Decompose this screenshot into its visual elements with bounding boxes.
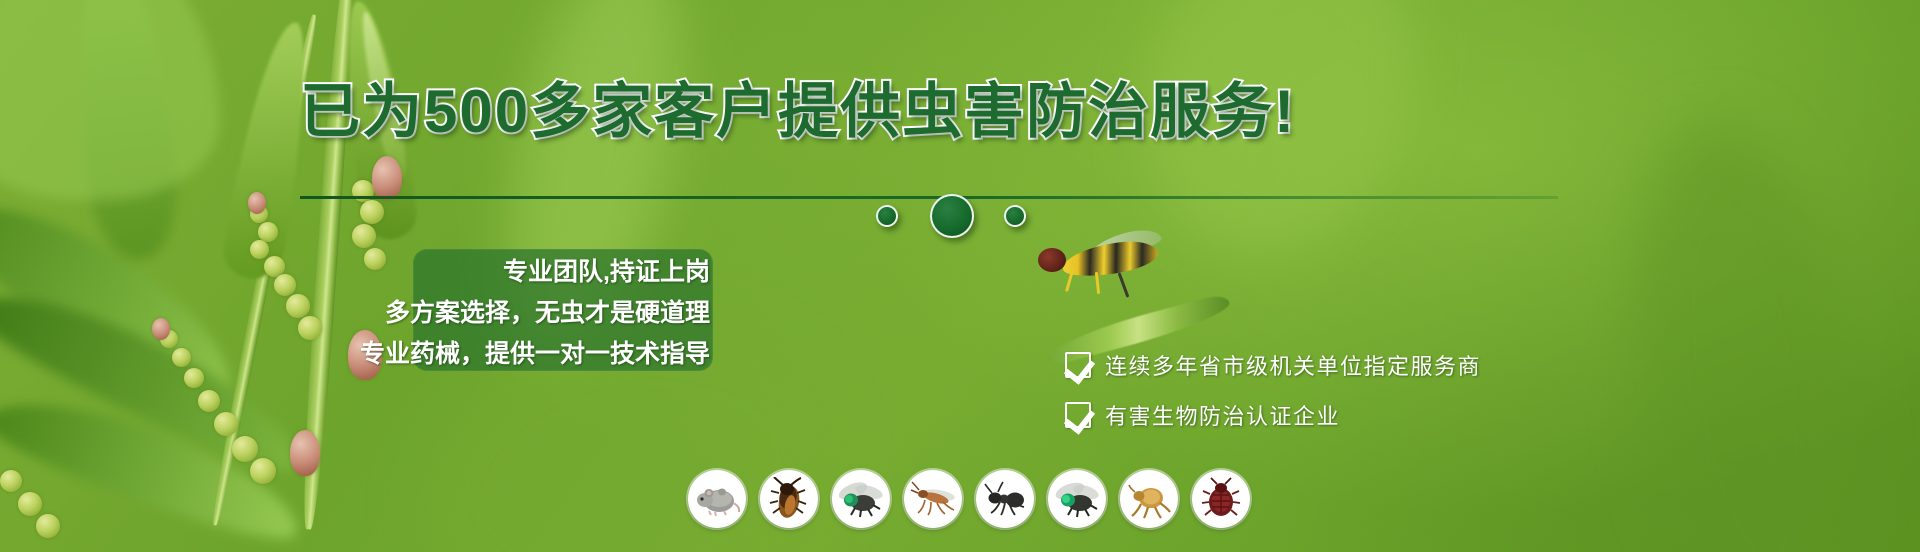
claim-line-1: 专业团队,持证上岗 <box>503 252 710 288</box>
hoverfly-icon <box>1060 237 1160 282</box>
decor-dot-small-left <box>876 205 898 227</box>
pest-icons-row <box>688 470 1250 528</box>
background-leaf-streak <box>1605 108 1885 552</box>
list-item: 连续多年省市级机关单位指定服务商 <box>1065 340 1605 390</box>
pest-control-hero-banner: 已为500多家客户提供虫害防治服务! 专业团队,持证上岗 多方案选择，无虫才是硬… <box>0 0 1920 552</box>
bedbug-icon <box>1192 470 1250 528</box>
hoverfly-head <box>1038 248 1066 272</box>
hoverfly-on-leaf-decoration <box>1010 230 1250 340</box>
checklist-label-1: 有害生物防治认证企业 <box>1105 399 1340 431</box>
headline-underline-divider <box>300 196 1558 199</box>
checklist-label-0: 连续多年省市级机关单位指定服务商 <box>1105 349 1481 381</box>
claim-line-3: 专业药械，提供一对一技术指导 <box>360 334 710 370</box>
claims-panel: 专业团队,持证上岗 多方案选择，无虫才是硬道理 专业药械，提供一对一技术指导 <box>340 252 740 370</box>
hoverfly-leg <box>1118 272 1130 297</box>
list-item: 有害生物防治认证企业 <box>1065 390 1605 440</box>
cockroach-icon <box>760 470 818 528</box>
certification-checklist: 连续多年省市级机关单位指定服务商 有害生物防治认证企业 <box>1065 340 1605 440</box>
decor-dot-large-center <box>930 194 974 238</box>
housefly-icon <box>832 470 890 528</box>
flea-icon <box>1120 470 1178 528</box>
decor-dot-small-right <box>1004 205 1026 227</box>
claim-line-2: 多方案选择，无虫才是硬道理 <box>385 293 710 329</box>
ant-icon <box>976 470 1034 528</box>
mosquito-icon <box>904 470 962 528</box>
page-title: 已为500多家客户提供虫害防治服务! <box>300 78 1420 146</box>
checkbox-checked-icon <box>1065 402 1091 428</box>
rodent-icon <box>688 470 746 528</box>
blowfly-icon <box>1048 470 1106 528</box>
checkbox-checked-icon <box>1065 352 1091 378</box>
